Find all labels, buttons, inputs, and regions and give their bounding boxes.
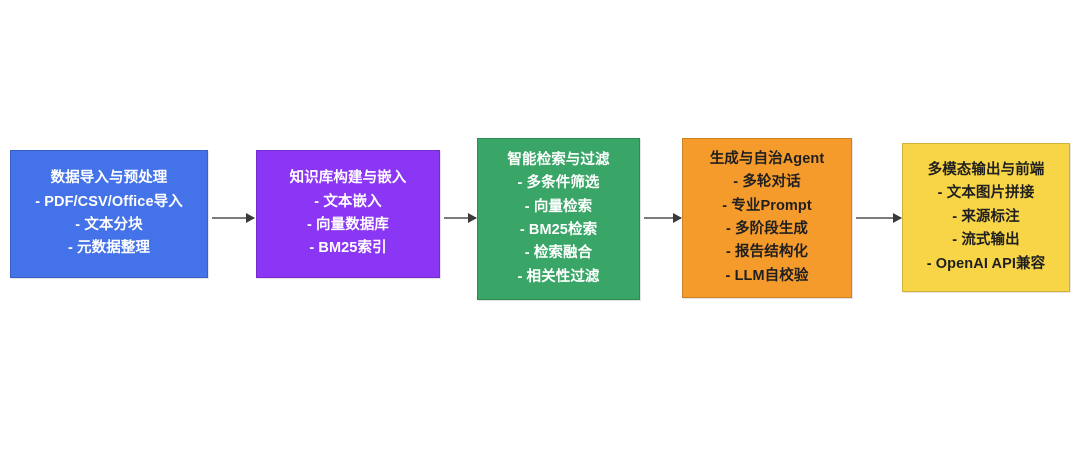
node-item: - OpenAI API兼容 (927, 253, 1045, 276)
node-item: - BM25索引 (309, 237, 386, 260)
node-item: - 来源标注 (952, 206, 1019, 229)
flow-arrow (856, 217, 901, 219)
node-item: - LLM自校验 (726, 265, 809, 288)
node-item: - 元数据整理 (68, 237, 150, 260)
arrowhead-icon (673, 213, 682, 223)
node-kb[interactable]: 知识库构建与嵌入- 文本嵌入- 向量数据库- BM25索引 (256, 150, 440, 278)
flow-arrow (644, 217, 681, 219)
flow-arrow (444, 217, 476, 219)
node-title: 生成与自治Agent (710, 148, 825, 171)
node-item: - 流式输出 (952, 229, 1019, 252)
node-agent[interactable]: 生成与自治Agent- 多轮对话- 专业Prompt- 多阶段生成- 报告结构化… (682, 138, 852, 298)
node-retrieval[interactable]: 智能检索与过滤- 多条件筛选- 向量检索- BM25检索- 检索融合- 相关性过… (477, 138, 640, 300)
arrowhead-icon (893, 213, 902, 223)
node-title: 数据导入与预处理 (51, 167, 168, 190)
node-item: - PDF/CSV/Office导入 (35, 191, 183, 214)
node-item: - 向量检索 (525, 196, 592, 219)
node-item: - 多轮对话 (733, 171, 800, 194)
arrowhead-icon (468, 213, 477, 223)
node-item: - 文本图片拼接 (938, 182, 1035, 205)
node-item: - BM25检索 (520, 219, 597, 242)
node-output[interactable]: 多模态输出与前端- 文本图片拼接- 来源标注- 流式输出- OpenAI API… (902, 143, 1070, 292)
node-item: - 文本分块 (75, 214, 142, 237)
arrowhead-icon (246, 213, 255, 223)
node-title: 知识库构建与嵌入 (290, 167, 407, 190)
node-item: - 文本嵌入 (314, 191, 381, 214)
node-ingest[interactable]: 数据导入与预处理- PDF/CSV/Office导入- 文本分块- 元数据整理 (10, 150, 208, 278)
node-item: - 报告结构化 (726, 241, 808, 264)
node-item: - 检索融合 (525, 242, 592, 265)
node-title: 多模态输出与前端 (928, 159, 1045, 182)
node-item: - 多阶段生成 (726, 218, 808, 241)
node-item: - 专业Prompt (722, 195, 812, 218)
node-title: 智能检索与过滤 (507, 149, 609, 172)
flow-arrow (212, 217, 254, 219)
node-item: - 多条件筛选 (517, 172, 599, 195)
flowchart-canvas: 数据导入与预处理- PDF/CSV/Office导入- 文本分块- 元数据整理知… (0, 0, 1080, 473)
node-item: - 相关性过滤 (517, 266, 599, 289)
node-item: - 向量数据库 (307, 214, 389, 237)
